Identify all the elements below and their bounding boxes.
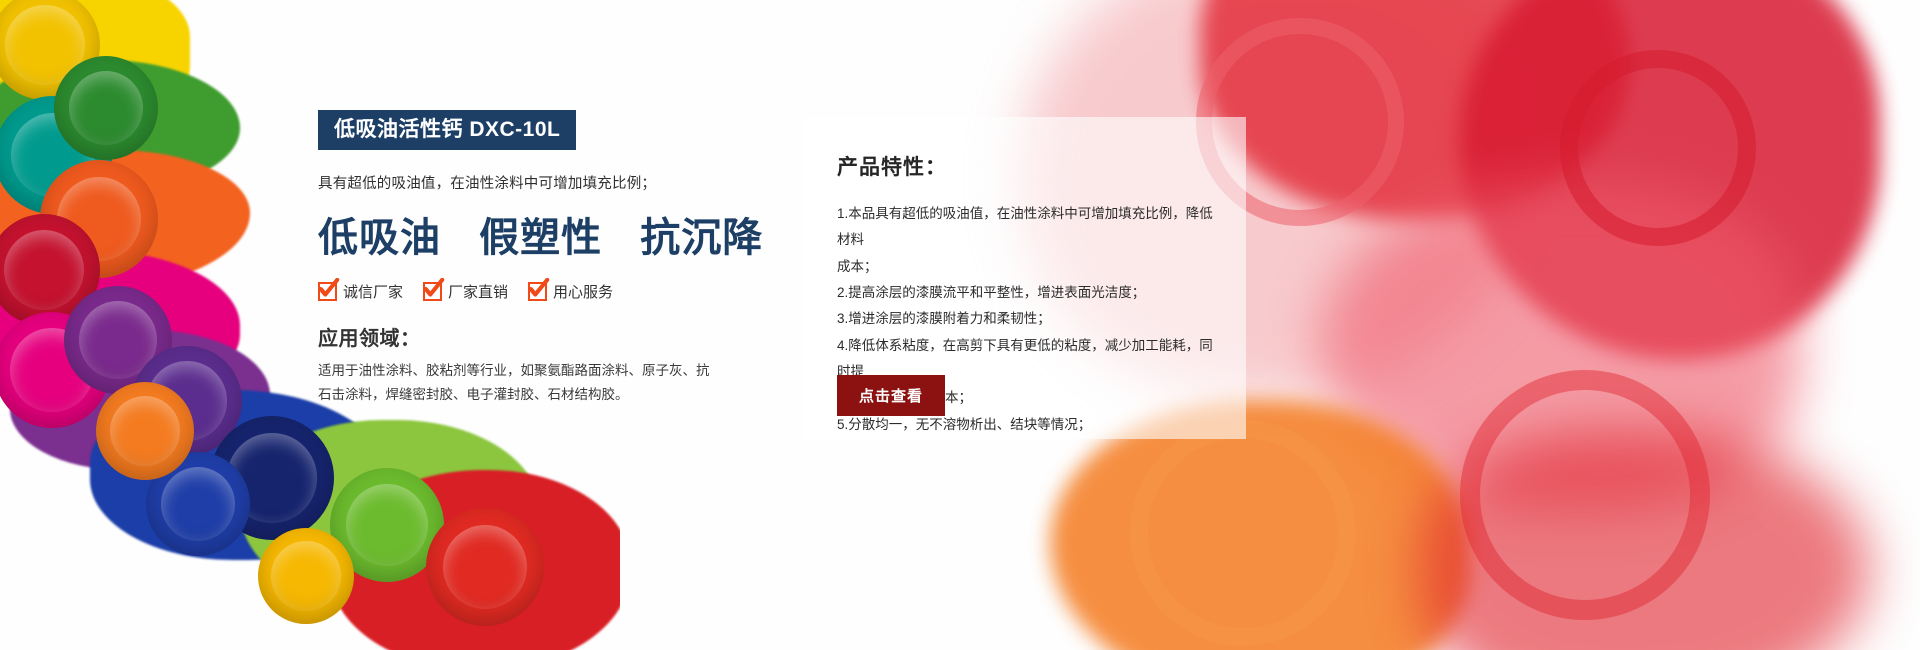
feature-line: 1.本品具有超低的吸油值，在油性涂料中可增加填充比例，降低材料 [837, 201, 1216, 254]
paint-smear-crimson [330, 470, 620, 650]
paint-smear-purple [10, 330, 270, 470]
checkbox-checked-icon [318, 282, 337, 301]
trust-tag-label: 用心服务 [553, 281, 613, 302]
paint-smear-lime [240, 420, 540, 610]
paint-wash-red-bottom [1420, 430, 1870, 650]
application-fields-text: 适用于油性涂料、胶粘剂等行业，如聚氨酯路面涂料、原子灰、抗石击涂料，焊缝密封胶、… [318, 359, 718, 406]
headline-word-2: 假塑性 [479, 216, 602, 260]
product-banner: 低吸油活性钙 DXC-10L 具有超低的吸油值，在油性涂料中可增加填充比例； 低… [0, 0, 1920, 650]
paint-ring-bottom-left [1130, 420, 1356, 646]
paint-pot-teal [0, 96, 112, 214]
paint-smear-blue [90, 390, 390, 560]
paint-pot-blue [146, 452, 250, 556]
paint-smear-green [0, 60, 240, 190]
trust-tag-label: 厂家直销 [448, 281, 508, 302]
trust-tag-3: 用心服务 [528, 281, 613, 302]
paint-pot-red [0, 214, 100, 326]
paint-pot-lime [330, 468, 444, 582]
feature-line: 成本； [837, 254, 1216, 280]
paint-wash-red-top [1200, 0, 1630, 220]
paint-pot-purple [64, 286, 172, 394]
checkbox-checked-icon [423, 282, 442, 301]
product-features-heading: 产品特性： [837, 151, 1216, 181]
headline-keywords: 低吸油 假塑性 抗沉降 [318, 205, 738, 263]
paint-smear-yellow [0, 0, 190, 130]
product-title-badge: 低吸油活性钙 DXC-10L [318, 110, 576, 150]
paint-ring-right [1560, 50, 1756, 246]
trust-tag-list: 诚信厂家 厂家直销 用心服务 [318, 281, 738, 302]
paint-pot-orange [40, 160, 158, 278]
paint-pot-violet [132, 346, 242, 456]
paint-wash-crimson-right [1460, 0, 1880, 360]
product-features-panel: 产品特性： 1.本品具有超低的吸油值，在油性涂料中可增加填充比例，降低材料 成本… [803, 117, 1246, 439]
product-subtitle: 具有超低的吸油值，在油性涂料中可增加填充比例； [318, 172, 738, 193]
trust-tag-1: 诚信厂家 [318, 281, 403, 302]
headline-word-1: 低吸油 [318, 216, 441, 260]
application-fields-heading: 应用领域： [318, 322, 738, 351]
paint-pot-indigo [210, 416, 334, 540]
paint-ring-bottom-right [1460, 370, 1710, 620]
left-content-column: 低吸油活性钙 DXC-10L 具有超低的吸油值，在油性涂料中可增加填充比例； 低… [318, 110, 738, 406]
headline-word-3: 抗沉降 [640, 216, 763, 260]
paint-pot-magenta [0, 312, 110, 428]
view-details-button[interactable]: 点击查看 [837, 375, 945, 416]
paint-wash-rose-mid [1320, 180, 1800, 510]
paint-pot-gold [258, 528, 354, 624]
trust-tag-2: 厂家直销 [423, 281, 508, 302]
paint-smear-magenta [0, 250, 240, 400]
paint-pot-orange2 [96, 382, 194, 480]
paint-smear-orange [0, 150, 250, 290]
paint-pot-yellow [0, 0, 100, 100]
paint-pot-green [54, 56, 158, 160]
paint-pot-scarlet [426, 508, 544, 626]
trust-tag-label: 诚信厂家 [343, 281, 403, 302]
feature-line: 2.提高涂层的漆膜流平和平整性，增进表面光洁度； [837, 280, 1216, 306]
checkbox-checked-icon [528, 282, 547, 301]
feature-line: 3.增进涂层的漆膜附着力和柔韧性； [837, 306, 1216, 332]
